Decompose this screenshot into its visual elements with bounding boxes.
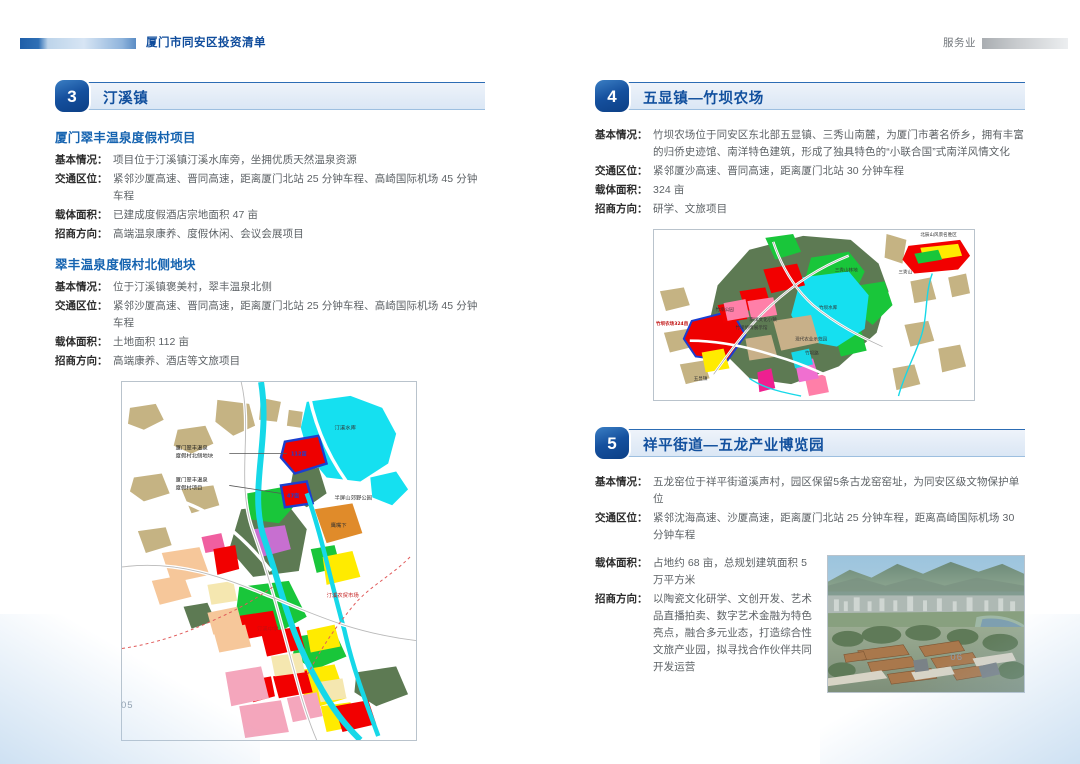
project-fields: 基本情况 项目位于汀溪镇汀溪水库旁，坐拥优质天然温泉资源 交通区位 紧邻沙厦高速… (55, 152, 485, 243)
field-value: 以陶瓷文化研学、文创开发、艺术品直播拍卖、数字艺术金融为特色亮点，融合多元业态，… (653, 591, 813, 676)
field-row: 载体面积 占地约 68 亩，总规划建筑面积 5 万平方米 (595, 555, 813, 589)
field-row: 载体面积 土地面积 112 亩 (55, 334, 485, 351)
svg-text:竹坝农场324亩: 竹坝农场324亩 (655, 320, 689, 327)
svg-text:竹坝路: 竹坝路 (805, 350, 819, 357)
field-row: 交通区位 紧邻厦沙高速、晋同高速，距离厦门北站 30 分钟车程 (595, 163, 1025, 180)
svg-text:现代农业示范园: 现代农业示范园 (795, 336, 827, 343)
field-label: 基本情况 (55, 152, 113, 169)
field-row: 载体面积 324 亩 (595, 182, 1025, 199)
section-number-badge: 3 (55, 80, 89, 112)
document-page: 厦门市同安区投资清单 服务业 3 汀溪镇 厦门翠丰温泉度假村项目 基本情况 项目… (0, 0, 1080, 764)
field-row: 基本情况 项目位于汀溪镇汀溪水库旁，坐拥优质天然温泉资源 (55, 152, 485, 169)
field-label: 交通区位 (55, 298, 113, 315)
svg-text:北辰山风景名胜区: 北辰山风景名胜区 (920, 231, 957, 238)
field-row: 招商方向 以陶瓷文化研学、文创开发、艺术品直播拍卖、数字艺术金融为特色亮点，融合… (595, 591, 813, 676)
section-header-tingxi: 3 汀溪镇 (55, 80, 485, 114)
tingxi-zoning-map-figure: 厦门翠丰温泉 度假村北侧地块 厦门翠丰温泉 度假村项目 汀溪水库 鹰嘴下 半屏山… (121, 381, 417, 741)
field-label: 基本情况 (55, 279, 113, 296)
field-label: 招商方向 (55, 226, 113, 243)
section-title: 五显镇—竹坝农场 (643, 87, 764, 108)
field-row: 交通区位 紧邻沙厦高速、晋同高速，距离厦门北站 25 分钟车程、高崎国际机场 4… (55, 298, 485, 332)
field-row: 招商方向 高端康养、酒店等文旅项目 (55, 353, 485, 370)
zhuba-farm-zoning-map-image: 竹坝水库 三秀山林地 竹坝农场324亩 北辰山风景名胜区 三秀山 竹坝公园 竹坝… (654, 230, 974, 400)
field-row: 基本情况 竹坝农场位于同安区东北部五显镇、三秀山南麓，为厦门市著名侨乡，拥有丰富… (595, 127, 1025, 161)
section-number-badge: 4 (595, 80, 629, 112)
page-number-left: 05 (121, 700, 134, 711)
field-row: 交通区位 紧邻沙厦高速、晋同高速，距离厦门北站 25 分钟车程、高崎国际机场 4… (55, 171, 485, 205)
project-title: 厦门翠丰温泉度假村项目 (55, 127, 485, 146)
header-gradient-bar-right (982, 38, 1068, 49)
field-row: 招商方向 高端温泉康养、度假休闲、会议会展项目 (55, 226, 485, 243)
svg-text:汀溪农贸市场: 汀溪农贸市场 (327, 591, 360, 599)
svg-text:鹰嘴下: 鹰嘴下 (331, 521, 348, 529)
field-value: 高端康养、酒店等文旅项目 (113, 353, 485, 370)
header-category-label: 服务业 (943, 35, 976, 50)
photo-row: 载体面积 占地约 68 亩，总规划建筑面积 5 万平方米 招商方向 以陶瓷文化研… (595, 555, 1025, 693)
project-fields: 基本情况 位于汀溪镇褒美村，翠丰温泉北侧 交通区位 紧邻沙厦高速、晋同高速，距离… (55, 279, 485, 370)
project-fields: 基本情况 竹坝农场位于同安区东北部五显镇、三秀山南麓，为厦门市著名侨乡，拥有丰富… (595, 127, 1025, 218)
field-value: 竹坝农场位于同安区东北部五显镇、三秀山南麓，为厦门市著名侨乡，拥有丰富的归侨史迹… (653, 127, 1025, 161)
field-row: 交通区位 紧邻沈海高速、沙厦高速，距离厦门北站 25 分钟车程，距离高崎国际机场… (595, 510, 1025, 544)
svg-text:五显镇: 五显镇 (694, 375, 708, 382)
project-fields: 基本情况 五龙窑位于祥平街道溪声村，园区保留5条古龙窑窑址，为同安区级文物保护单… (595, 474, 1025, 544)
field-label: 载体面积 (55, 207, 113, 224)
field-value: 五龙窑位于祥平街道溪声村，园区保留5条古龙窑窑址，为同安区级文物保护单位 (653, 474, 1025, 508)
zhuba-farm-zoning-map-figure: 竹坝水库 三秀山林地 竹坝农场324亩 北辰山风景名胜区 三秀山 竹坝公园 竹坝… (653, 229, 975, 401)
section-header-xiangping: 5 祥平街道—五龙产业博览园 (595, 427, 1025, 461)
field-label: 基本情况 (595, 474, 653, 491)
field-label: 基本情况 (595, 127, 653, 144)
project-block: 翠丰温泉度假村北侧地块 基本情况 位于汀溪镇褒美村，翠丰温泉北侧 交通区位 紧邻… (55, 254, 485, 370)
tingxi-zoning-map-image: 厦门翠丰温泉 度假村北侧地块 厦门翠丰温泉 度假村项目 汀溪水库 鹰嘴下 半屏山… (122, 382, 416, 740)
field-label: 载体面积 (595, 555, 653, 572)
field-label: 交通区位 (55, 171, 113, 188)
svg-text:竹坝公园: 竹坝公园 (716, 306, 735, 313)
svg-text:厦门翠丰温泉: 厦门翠丰温泉 (176, 475, 209, 483)
field-row: 招商方向 研学、文旅项目 (595, 201, 1025, 218)
page-number-right: 06 (950, 652, 963, 663)
field-label: 交通区位 (595, 510, 653, 527)
left-column: 3 汀溪镇 厦门翠丰温泉度假村项目 基本情况 项目位于汀溪镇汀溪水库旁，坐拥优质… (55, 80, 485, 741)
section-header-wuxian: 4 五显镇—竹坝农场 (595, 80, 1025, 114)
header-gradient-bar-left (20, 38, 136, 49)
svg-text:112亩: 112亩 (291, 450, 307, 458)
document-title: 厦门市同安区投资清单 (146, 34, 266, 50)
field-value: 紧邻厦沙高速、晋同高速，距离厦门北站 30 分钟车程 (653, 163, 1025, 180)
photo-row-text: 载体面积 占地约 68 亩，总规划建筑面积 5 万平方米 招商方向 以陶瓷文化研… (595, 555, 813, 678)
field-value: 高端温泉康养、度假休闲、会议会展项目 (113, 226, 485, 243)
field-row: 基本情况 五龙窑位于祥平街道溪声村，园区保留5条古龙窑窑址，为同安区级文物保护单… (595, 474, 1025, 508)
field-value: 紧邻沈海高速、沙厦高速，距离厦门北站 25 分钟车程，距离高崎国际机场 30 分… (653, 510, 1025, 544)
field-label: 交通区位 (595, 163, 653, 180)
section-title: 汀溪镇 (103, 87, 148, 108)
wulong-park-aerial-photo-image (828, 556, 1024, 692)
svg-text:三秀山: 三秀山 (898, 269, 912, 276)
running-header: 厦门市同安区投资清单 服务业 (0, 35, 1080, 53)
field-label: 载体面积 (55, 334, 113, 351)
project-block: 厦门翠丰温泉度假村项目 基本情况 项目位于汀溪镇汀溪水库旁，坐拥优质天然温泉资源… (55, 127, 485, 243)
field-row: 载体面积 已建成度假酒店宗地面积 47 亩 (55, 207, 485, 224)
svg-text:厦门翠丰温泉: 厦门翠丰温泉 (176, 444, 209, 452)
field-label: 载体面积 (595, 182, 653, 199)
project-title: 翠丰温泉度假村北侧地块 (55, 254, 485, 273)
field-value: 紧邻沙厦高速、晋同高速，距离厦门北站 25 分钟车程、高崎国际机场 45 分钟车… (113, 298, 485, 332)
svg-text:度假村项目: 度假村项目 (176, 483, 203, 491)
field-value: 已建成度假酒店宗地面积 47 亩 (113, 207, 485, 224)
field-value: 紧邻沙厦高速、晋同高速，距离厦门北站 25 分钟车程、高崎国际机场 45 分钟车… (113, 171, 485, 205)
svg-text:半屏山郊野公园: 半屏山郊野公园 (335, 493, 373, 501)
svg-text:三秀山林地: 三秀山林地 (835, 267, 858, 274)
svg-text:47亩: 47亩 (287, 491, 299, 499)
svg-text:竹坝侨情展示馆: 竹坝侨情展示馆 (735, 324, 767, 331)
svg-text:南洋文化小镇: 南洋文化小镇 (749, 316, 777, 323)
svg-text:度假村北侧地块: 度假村北侧地块 (176, 452, 214, 460)
wulong-park-aerial-photo-figure (827, 555, 1025, 693)
project-block: 基本情况 竹坝农场位于同安区东北部五显镇、三秀山南麓，为厦门市著名侨乡，拥有丰富… (595, 127, 1025, 218)
svg-text:汀溪中学: 汀溪中学 (257, 625, 279, 633)
svg-text:汀溪水库: 汀溪水库 (335, 424, 357, 432)
section-title: 祥平街道—五龙产业博览园 (643, 434, 824, 455)
field-value: 324 亩 (653, 182, 1025, 199)
svg-text:竹坝水库: 竹坝水库 (819, 304, 838, 311)
field-value: 占地约 68 亩，总规划建筑面积 5 万平方米 (653, 555, 813, 589)
field-label: 招商方向 (55, 353, 113, 370)
field-row: 基本情况 位于汀溪镇褒美村，翠丰温泉北侧 (55, 279, 485, 296)
field-value: 项目位于汀溪镇汀溪水库旁，坐拥优质天然温泉资源 (113, 152, 485, 169)
field-value: 土地面积 112 亩 (113, 334, 485, 351)
field-label: 招商方向 (595, 201, 653, 218)
right-column: 4 五显镇—竹坝农场 基本情况 竹坝农场位于同安区东北部五显镇、三秀山南麓，为厦… (595, 80, 1025, 693)
field-value: 研学、文旅项目 (653, 201, 1025, 218)
section-number-badge: 5 (595, 427, 629, 459)
field-value: 位于汀溪镇褒美村，翠丰温泉北侧 (113, 279, 485, 296)
field-label: 招商方向 (595, 591, 653, 608)
